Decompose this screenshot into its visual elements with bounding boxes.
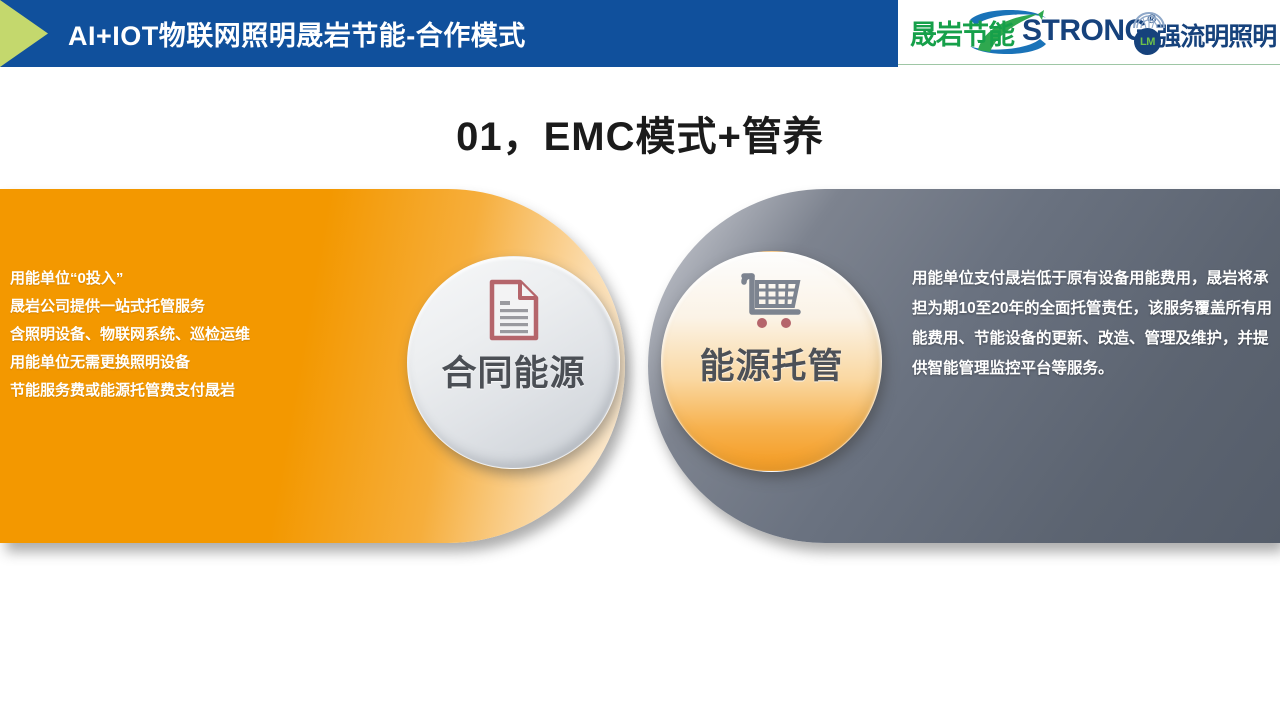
badge-left-label: 合同能源 — [441, 345, 585, 396]
list-item: 用能单位“0投入” — [10, 265, 370, 293]
logo-lm-badge: LM — [1134, 28, 1161, 55]
slide-title: 01，EMC模式+管养 — [0, 104, 1280, 162]
logo-brand-cn: 晟岩节能 — [910, 13, 1014, 52]
panel-right-paragraph: 用能单位支付晟岩低于原有设备用能费用，晟岩将承担为期10至20年的全面托管责任，… — [912, 264, 1272, 384]
list-item: 晟岩公司提供一站式托管服务 — [10, 293, 370, 321]
fan-arc-icon — [1132, 11, 1166, 29]
slide-header: AI+IOT物联网照明晟岩节能-合作模式 晟岩节能 STRONG ® 强流明照明… — [0, 0, 1280, 68]
company-logo: 晟岩节能 STRONG ® 强流明照明 LM — [898, 0, 1280, 65]
badge-contract-energy[interactable]: 合同能源 — [407, 256, 620, 469]
list-item: 节能服务费或能源托管费支付晟岩 — [10, 377, 370, 405]
list-item: 用能单位无需更换照明设备 — [10, 349, 370, 377]
content-panels: 用能单位“0投入” 晟岩公司提供一站式托管服务 含照明设备、物联网系统、巡检运维… — [0, 189, 1280, 559]
panel-left-bullet-list: 用能单位“0投入” 晟岩公司提供一站式托管服务 含照明设备、物联网系统、巡检运维… — [10, 265, 370, 405]
logo-brand-en: STRONG — [1022, 14, 1147, 48]
list-item: 含照明设备、物联网系统、巡检运维 — [10, 321, 370, 349]
header-title: AI+IOT物联网照明晟岩节能-合作模式 — [68, 0, 526, 67]
shopping-cart-icon — [740, 270, 804, 332]
badge-energy-hosting[interactable]: 能源托管 — [661, 251, 882, 472]
badge-right-label: 能源托管 — [699, 338, 843, 389]
logo-brand-en-group: STRONG ® 强流明照明 LM — [1022, 14, 1276, 50]
logo-brand-cn2: 强流明照明 — [1156, 17, 1276, 53]
document-icon — [488, 279, 540, 341]
